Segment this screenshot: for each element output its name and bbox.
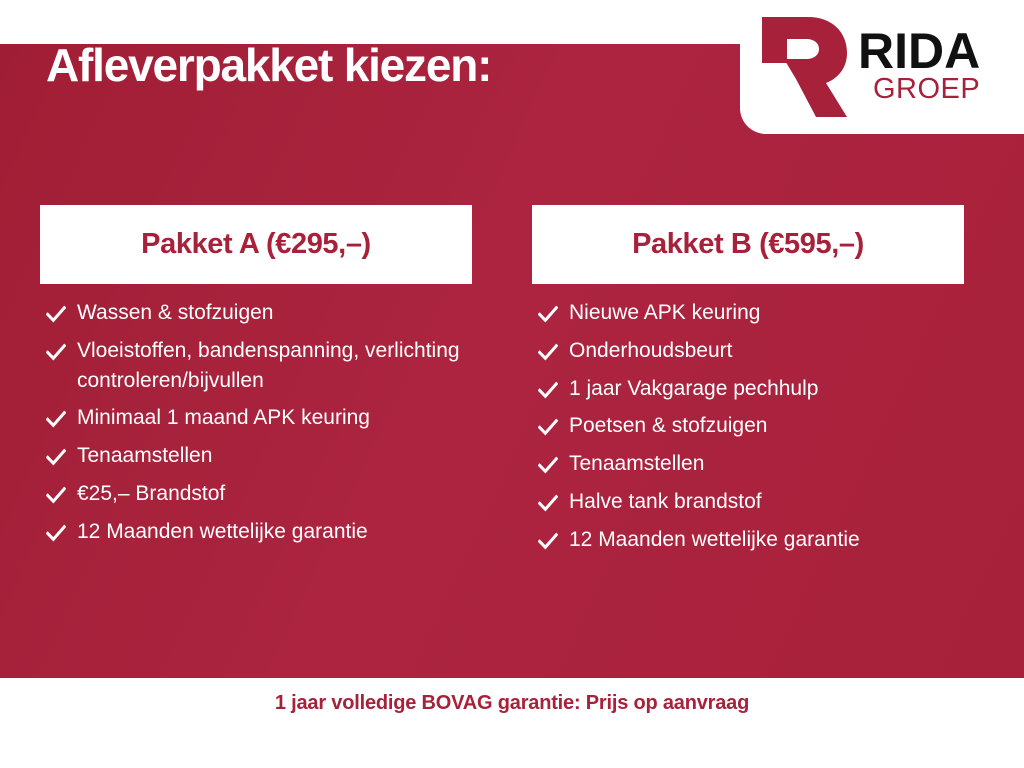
- check-icon: [538, 493, 558, 513]
- package-column-a: Pakket A (€295,–) Wassen & stofzuigen Vl…: [40, 205, 472, 563]
- list-item: Tenaamstellen: [46, 441, 472, 471]
- list-item-label: 1 jaar Vakgarage pechhulp: [569, 374, 964, 404]
- package-a-title: Pakket A (€295,–): [141, 228, 371, 261]
- list-item-label: €25,– Brandstof: [77, 479, 472, 509]
- package-a-feature-list: Wassen & stofzuigen Vloeistoffen, banden…: [40, 298, 472, 547]
- check-icon: [46, 342, 66, 362]
- list-item-label: Tenaamstellen: [569, 449, 964, 479]
- package-a-header[interactable]: Pakket A (€295,–): [40, 205, 472, 284]
- list-item: Vloeistoffen, bandenspanning, verlichtin…: [46, 336, 472, 396]
- list-item-label: Onderhoudsbeurt: [569, 336, 964, 366]
- list-item: 1 jaar Vakgarage pechhulp: [538, 374, 964, 404]
- list-item: Nieuwe APK keuring: [538, 298, 964, 328]
- list-item: Wassen & stofzuigen: [46, 298, 472, 328]
- list-item: Halve tank brandstof: [538, 487, 964, 517]
- brand-name-secondary: GROEP: [873, 76, 980, 103]
- check-icon: [46, 447, 66, 467]
- list-item: Tenaamstellen: [538, 449, 964, 479]
- page-title: Afleverpakket kiezen:: [46, 38, 491, 92]
- list-item: Poetsen & stofzuigen: [538, 411, 964, 441]
- list-item: 12 Maanden wettelijke garantie: [538, 525, 964, 555]
- list-item: 12 Maanden wettelijke garantie: [46, 517, 472, 547]
- package-b-title: Pakket B (€595,–): [632, 228, 864, 261]
- list-item: Onderhoudsbeurt: [538, 336, 964, 366]
- check-icon: [538, 531, 558, 551]
- check-icon: [46, 409, 66, 429]
- list-item-label: 12 Maanden wettelijke garantie: [569, 525, 964, 555]
- check-icon: [538, 304, 558, 324]
- slide-root: Afleverpakket kiezen: RIDA GROEP Pakket …: [0, 0, 1024, 768]
- check-icon: [46, 523, 66, 543]
- footer-bar: 1 jaar volledige BOVAG garantie: Prijs o…: [0, 678, 1024, 768]
- brand-name-primary: RIDA: [858, 28, 980, 74]
- list-item-label: Poetsen & stofzuigen: [569, 411, 964, 441]
- list-item-label: Vloeistoffen, bandenspanning, verlichtin…: [77, 336, 472, 396]
- check-icon: [46, 304, 66, 324]
- check-icon: [46, 485, 66, 505]
- package-b-feature-list: Nieuwe APK keuring Onderhoudsbeurt 1 jaa…: [532, 298, 964, 555]
- rida-r-monogram-icon: [756, 15, 848, 119]
- list-item: Minimaal 1 maand APK keuring: [46, 403, 472, 433]
- check-icon: [538, 455, 558, 475]
- list-item-label: Tenaamstellen: [77, 441, 472, 471]
- list-item-label: Halve tank brandstof: [569, 487, 964, 517]
- packages-container: Pakket A (€295,–) Wassen & stofzuigen Vl…: [0, 205, 1024, 563]
- package-column-b: Pakket B (€595,–) Nieuwe APK keuring Ond…: [532, 205, 964, 563]
- list-item-label: Nieuwe APK keuring: [569, 298, 964, 328]
- brand-logo: RIDA GROEP: [740, 0, 1024, 134]
- package-b-header[interactable]: Pakket B (€595,–): [532, 205, 964, 284]
- brand-wordmark: RIDA GROEP: [858, 28, 980, 107]
- footer-note: 1 jaar volledige BOVAG garantie: Prijs o…: [275, 692, 749, 768]
- check-icon: [538, 342, 558, 362]
- list-item-label: Wassen & stofzuigen: [77, 298, 472, 328]
- list-item-label: 12 Maanden wettelijke garantie: [77, 517, 472, 547]
- list-item: €25,– Brandstof: [46, 479, 472, 509]
- check-icon: [538, 417, 558, 437]
- list-item-label: Minimaal 1 maand APK keuring: [77, 403, 472, 433]
- check-icon: [538, 380, 558, 400]
